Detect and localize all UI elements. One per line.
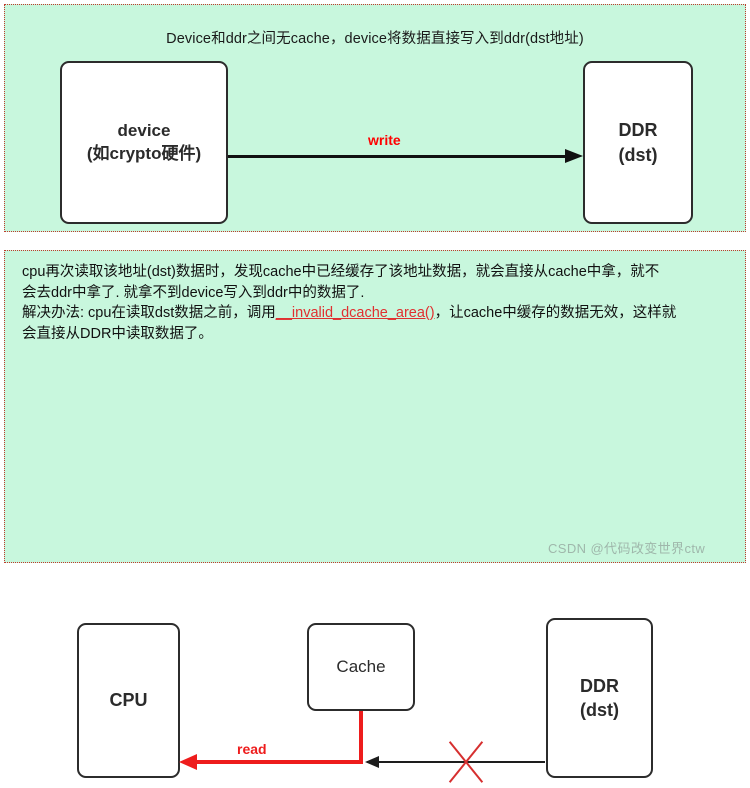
cross-mark-icon <box>442 736 488 788</box>
node-ddr-top-label-secondary: (dst) <box>619 143 658 167</box>
blocked-ddr-arrow-head-icon <box>365 756 379 768</box>
read-arrow-head-icon <box>179 754 197 770</box>
write-arrow-line <box>228 155 575 158</box>
explanation-line-3-prefix: 解决办法: cpu在读取dst数据之前，调用 <box>22 305 276 321</box>
explanation-line-3: 解决办法: cpu在读取dst数据之前，调用__invalid_dcache_a… <box>22 303 728 324</box>
node-ddr-bottom-label-primary: DDR <box>580 674 619 698</box>
cache-to-read-connector <box>359 711 363 763</box>
diagram-canvas: Device和ddr之间无cache，device将数据直接写入到ddr(dst… <box>0 0 750 567</box>
node-device-label-secondary: (如crypto硬件) <box>87 143 201 166</box>
explanation-paragraph: cpu再次读取该地址(dst)数据时，发现cache中已经缓存了该地址数据，就会… <box>22 262 728 344</box>
node-cache: Cache <box>307 623 415 711</box>
explanation-line-2: 会去ddr中拿了. 就拿不到device写入到ddr中的数据了. <box>22 283 728 304</box>
explanation-line-4: 会直接从DDR中读取数据了。 <box>22 324 728 345</box>
node-device: device (如crypto硬件) <box>60 61 228 224</box>
node-device-label-primary: device <box>118 120 171 143</box>
write-arrow-label: write <box>368 132 401 148</box>
panel-no-cache-write: Device和ddr之间无cache，device将数据直接写入到ddr(dst… <box>4 4 746 232</box>
node-ddr-bottom-label-secondary: (dst) <box>580 698 619 722</box>
csdn-watermark: CSDN @代码改变世界ctw <box>548 538 705 557</box>
read-arrow-line <box>193 760 363 764</box>
write-arrow-head-icon <box>565 149 583 163</box>
read-arrow-label: read <box>237 741 267 757</box>
panel-top-caption: Device和ddr之间无cache，device将数据直接写入到ddr(dst… <box>5 27 745 48</box>
node-cpu-label: CPU <box>109 688 147 712</box>
node-ddr-bottom: DDR (dst) <box>546 618 653 778</box>
invalid-dcache-area-reference: __invalid_dcache_area() <box>276 305 435 321</box>
node-ddr-top: DDR (dst) <box>583 61 693 224</box>
node-cpu: CPU <box>77 623 180 778</box>
node-cache-label: Cache <box>336 656 385 679</box>
node-ddr-top-label-primary: DDR <box>619 118 658 142</box>
explanation-line-1: cpu再次读取该地址(dst)数据时，发现cache中已经缓存了该地址数据，就会… <box>22 262 728 283</box>
explanation-line-3-suffix: ，让cache中缓存的数据无效，这样就 <box>435 305 677 321</box>
